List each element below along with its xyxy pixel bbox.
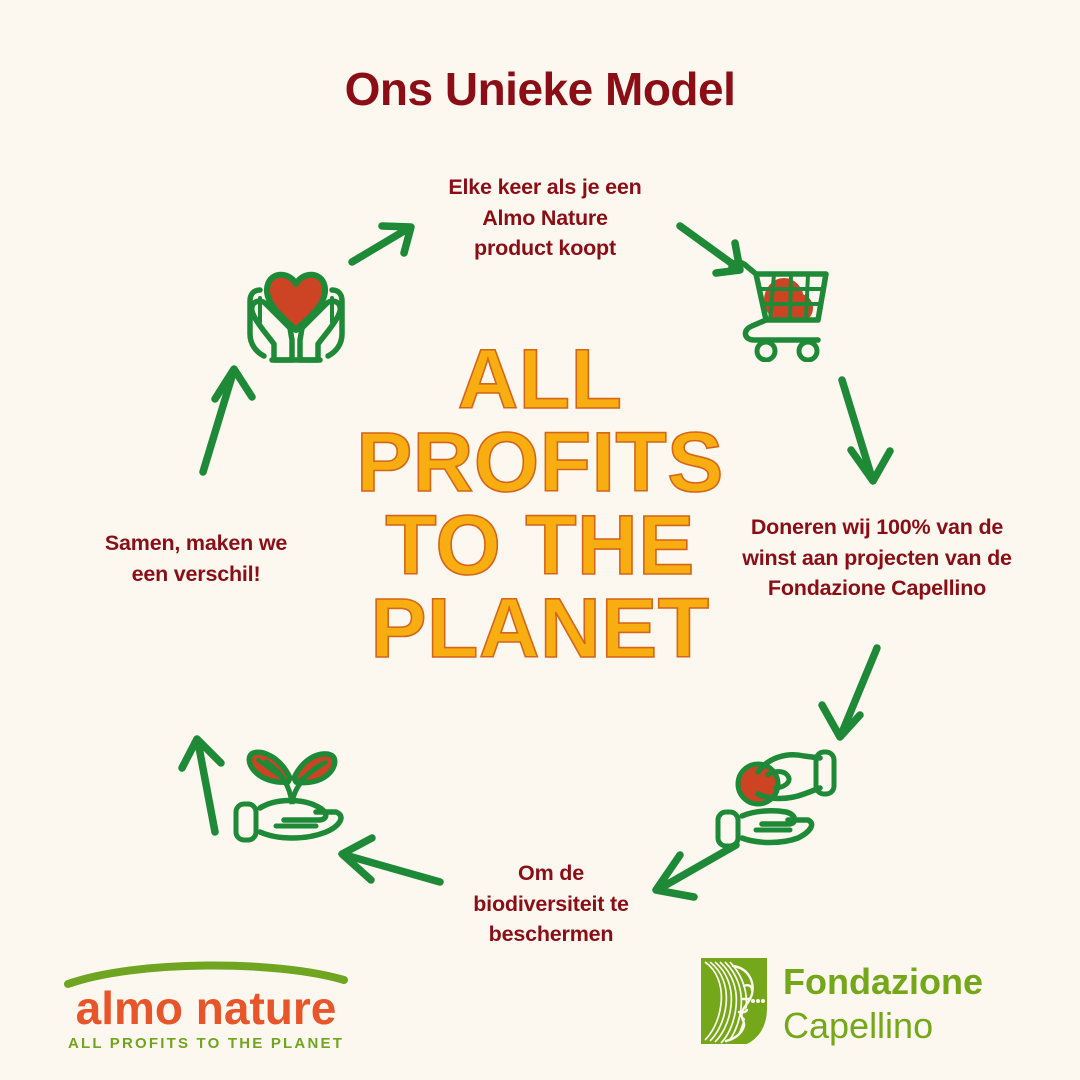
caption-line: Om de xyxy=(420,858,682,889)
fondazione-capellino-mark xyxy=(701,958,767,1044)
headline-line-1: ALL xyxy=(330,338,750,421)
arrow-together-to-heart xyxy=(203,369,252,472)
caption-line: Almo Nature xyxy=(390,203,700,234)
center-headline: ALL PROFITS TO THE PLANET xyxy=(330,338,750,671)
hand-giving-coin-icon xyxy=(712,742,840,859)
arrow-cart-to-donate xyxy=(842,380,890,481)
headline-line-3: TO THE xyxy=(330,504,750,587)
almo-nature-logo: almo nature ALL PROFITS TO THE PLANET xyxy=(62,958,350,1054)
almo-nature-tagline: ALL PROFITS TO THE PLANET xyxy=(68,1035,344,1052)
fondazione-wordmark-line1: Fondazione xyxy=(783,961,983,1002)
caption-line: winst aan projecten van de xyxy=(712,543,1042,574)
step-caption-buy: Elke keer als je een Almo Nature product… xyxy=(390,172,700,264)
caption-line: Fondazione Capellino xyxy=(712,573,1042,604)
arrow-donate-to-coin xyxy=(822,648,877,737)
arrow-sprout-to-together xyxy=(182,739,221,832)
fondazione-wordmark-line2: Capellino xyxy=(783,1005,933,1046)
headline-line-4: PLANET xyxy=(330,587,750,670)
almo-nature-wordmark: almo nature xyxy=(76,982,337,1034)
caption-line: Elke keer als je een xyxy=(390,172,700,203)
page-title: Ons Unieke Model xyxy=(0,62,1080,116)
infographic-canvas: Ons Unieke Model xyxy=(0,0,1080,1080)
caption-line: Samen, maken we xyxy=(60,528,332,559)
hand-holding-sprout-icon xyxy=(232,736,354,855)
caption-line: product koopt xyxy=(390,233,700,264)
caption-line: beschermen xyxy=(420,919,682,950)
caption-line: Doneren wij 100% van de xyxy=(712,512,1042,543)
caption-line: biodiversiteit te xyxy=(420,889,682,920)
fondazione-capellino-logo: Fondazione Capellino xyxy=(697,952,1019,1048)
caption-line: een verschil! xyxy=(60,559,332,590)
step-caption-biodiversity: Om de biodiversiteit te beschermen xyxy=(420,858,682,950)
step-caption-together: Samen, maken we een verschil! xyxy=(60,528,332,589)
step-caption-donate: Doneren wij 100% van de winst aan projec… xyxy=(712,512,1042,604)
headline-line-2: PROFITS xyxy=(330,421,750,504)
